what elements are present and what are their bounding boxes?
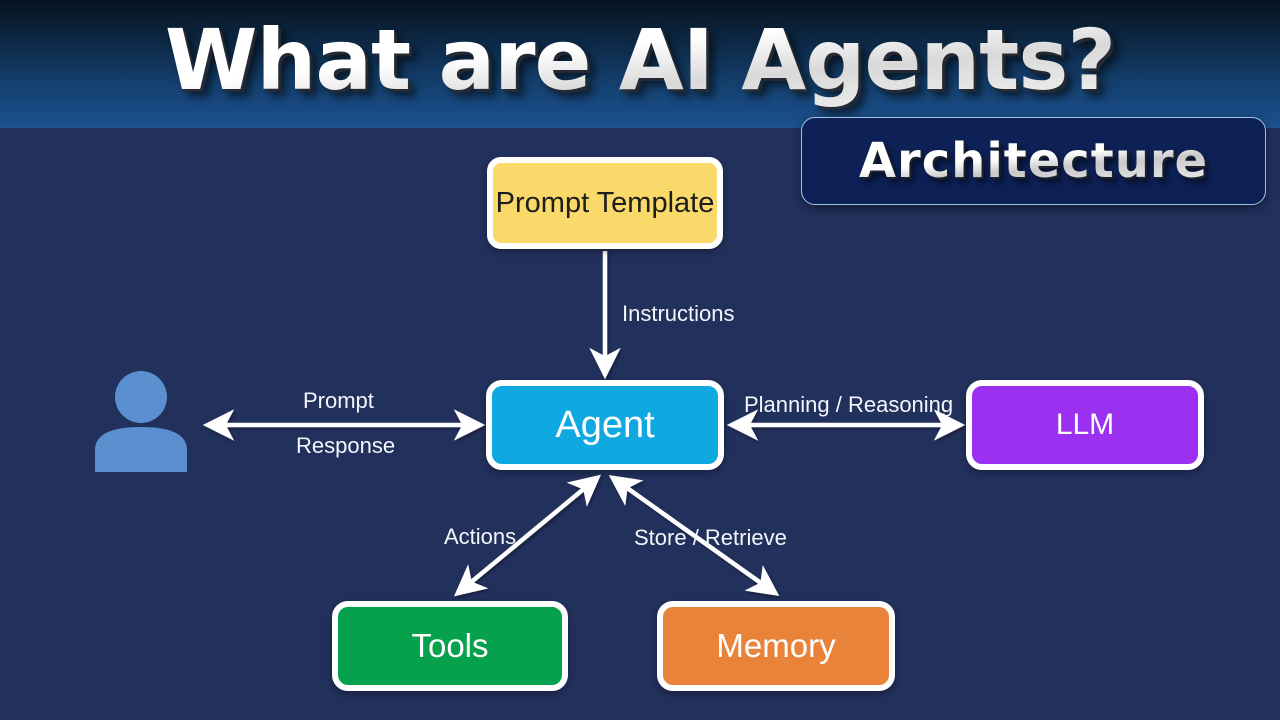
node-tools-label: Tools	[411, 627, 488, 665]
node-memory[interactable]: Memory	[657, 601, 895, 691]
slide-canvas: What are AI Agents? Architecture	[0, 0, 1280, 720]
node-llm[interactable]: LLM	[966, 380, 1204, 470]
node-llm-label: LLM	[1056, 408, 1114, 442]
edge-label-instructions: Instructions	[622, 301, 735, 327]
node-agent-label: Agent	[555, 404, 654, 447]
edge-label-response: Response	[296, 433, 395, 459]
node-tools[interactable]: Tools	[332, 601, 568, 691]
edge-label-store-retrieve: Store / Retrieve	[634, 525, 787, 551]
edge-label-prompt: Prompt	[303, 388, 374, 414]
architecture-badge: Architecture	[801, 117, 1266, 205]
architecture-badge-label: Architecture	[859, 133, 1208, 189]
edge-label-actions: Actions	[444, 524, 516, 550]
edge-label-planning-reasoning: Planning / Reasoning	[744, 392, 953, 418]
node-memory-label: Memory	[716, 627, 835, 665]
node-prompt-template-label: Prompt Template	[496, 187, 715, 220]
user-person-icon	[93, 370, 189, 472]
node-prompt-template[interactable]: Prompt Template	[487, 157, 723, 249]
page-title: What are AI Agents?	[0, 8, 1280, 112]
node-agent[interactable]: Agent	[486, 380, 724, 470]
